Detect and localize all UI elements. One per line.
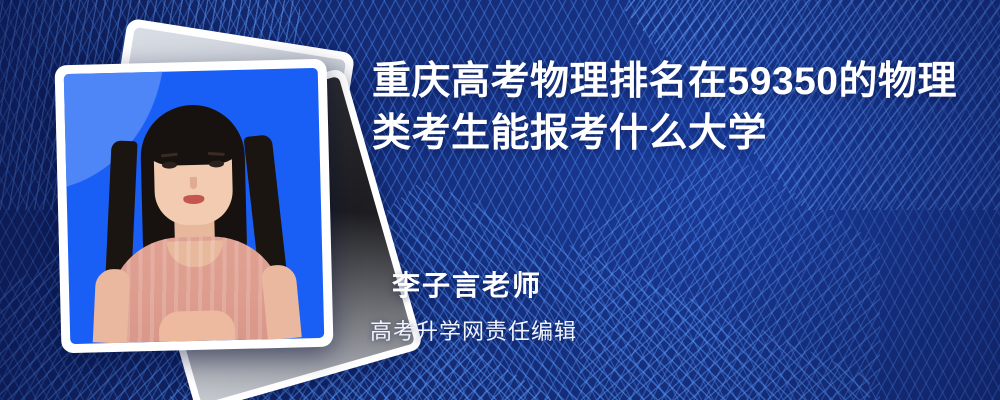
byline-block: 李子言老师 高考升学网责任编辑 xyxy=(392,264,577,346)
author-name: 李子言老师 xyxy=(392,264,577,304)
teacher-portrait-photo xyxy=(64,68,325,344)
photo-card-stack xyxy=(52,32,352,362)
nose-shape xyxy=(190,177,197,189)
article-cover-banner: 重庆高考物理排名在59350的物理 类考生能报考什么大学 李子言老师 高考升学网… xyxy=(0,0,1000,400)
arm-left xyxy=(93,268,130,343)
portrait-figure xyxy=(81,88,307,343)
headline-line-1: 重庆高考物理排名在59350的物理 xyxy=(372,56,972,108)
main-photo-card xyxy=(55,59,334,354)
headline-line-2: 类考生能报考什么大学 xyxy=(372,108,972,160)
headline-block: 重庆高考物理排名在59350的物理 类考生能报考什么大学 xyxy=(372,56,972,161)
arm-right xyxy=(261,263,302,340)
author-role: 高考升学网责任编辑 xyxy=(370,314,577,346)
hands-shape xyxy=(159,310,236,342)
